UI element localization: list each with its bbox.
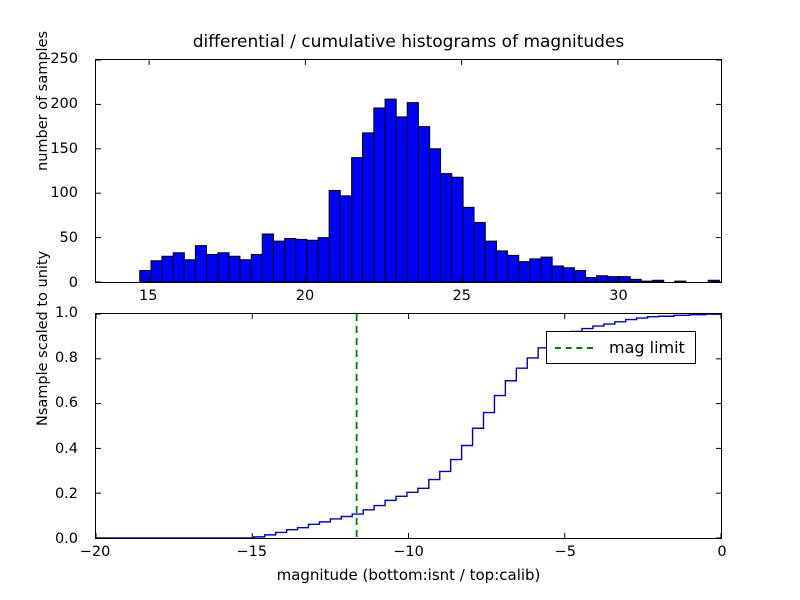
histogram-bar bbox=[173, 253, 184, 282]
histogram-bar bbox=[162, 256, 173, 282]
histogram-bar bbox=[385, 99, 396, 282]
matplotlib-figure: differential / cumulative histograms of … bbox=[0, 0, 800, 600]
top-xtick-label: 25 bbox=[453, 288, 471, 304]
bottom-ytick-label: 1.0 bbox=[55, 305, 86, 321]
top-ytick-label: 150 bbox=[50, 141, 86, 157]
histogram-bar bbox=[597, 276, 608, 282]
histogram-bar bbox=[274, 241, 285, 282]
bottom-axis-xticklabels: −20−15−10−50 bbox=[0, 544, 800, 564]
histogram-bar bbox=[218, 253, 229, 282]
histogram-bar bbox=[340, 196, 351, 282]
histogram-bar bbox=[630, 279, 641, 282]
histogram-bar bbox=[541, 257, 552, 282]
histogram-bar bbox=[396, 117, 407, 282]
histogram-bar bbox=[352, 158, 363, 282]
legend-label-mag-limit: mag limit bbox=[609, 338, 685, 357]
histogram-bar bbox=[285, 238, 296, 282]
histogram-bar bbox=[519, 262, 530, 282]
histogram-bar bbox=[363, 133, 374, 282]
bottom-xtick-label: −20 bbox=[80, 544, 111, 560]
histogram-bar bbox=[307, 240, 318, 282]
histogram-bar bbox=[563, 268, 574, 282]
histogram-bar bbox=[229, 256, 240, 282]
histogram-bar bbox=[251, 254, 262, 282]
histogram-bar bbox=[463, 207, 474, 282]
histogram-bar bbox=[586, 278, 597, 282]
bottom-ytick-label: 0.4 bbox=[55, 441, 86, 457]
histogram-bar bbox=[496, 251, 507, 282]
differential-histogram-plot bbox=[95, 59, 722, 283]
histogram-bar bbox=[429, 149, 440, 282]
top-ytick-label: 100 bbox=[50, 185, 86, 201]
figure-xlabel: magnitude (bottom:isnt / top:calib) bbox=[95, 566, 722, 584]
top-axis-xticklabels: 15202530 bbox=[0, 288, 800, 308]
histogram-bar bbox=[318, 238, 329, 282]
histogram-bar bbox=[675, 281, 686, 282]
top-ytick-label: 50 bbox=[60, 230, 86, 246]
histogram-bar bbox=[485, 241, 496, 282]
histogram-bar bbox=[574, 270, 585, 282]
histogram-bar bbox=[240, 260, 251, 282]
figure-title: differential / cumulative histograms of … bbox=[95, 32, 722, 52]
histogram-bar bbox=[474, 223, 485, 282]
histogram-bar bbox=[441, 174, 452, 282]
top-ytick-label: 200 bbox=[50, 96, 86, 112]
histogram-bar bbox=[619, 277, 630, 282]
top-xtick-label: 20 bbox=[296, 288, 314, 304]
histogram-bar bbox=[452, 177, 463, 282]
histogram-bar bbox=[407, 103, 418, 282]
histogram-bar bbox=[508, 255, 519, 282]
histogram-bar bbox=[530, 259, 541, 282]
bottom-xtick-label: −5 bbox=[555, 544, 576, 560]
histogram-bar bbox=[653, 280, 664, 282]
bottom-xtick-label: 0 bbox=[717, 544, 726, 560]
histogram-bar bbox=[195, 246, 206, 282]
top-axis-ylabel: number of samples bbox=[35, 31, 51, 171]
top-xtick-label: 15 bbox=[139, 288, 157, 304]
legend-line-sample-mag-limit bbox=[555, 347, 593, 349]
histogram-bar bbox=[374, 108, 385, 282]
legend: mag limit bbox=[546, 331, 696, 364]
bottom-ytick-label: 0.8 bbox=[55, 350, 86, 366]
differential-histogram-canvas bbox=[96, 60, 721, 282]
histogram-bar bbox=[296, 239, 307, 282]
bottom-ytick-label: 0.6 bbox=[55, 395, 86, 411]
histogram-bar bbox=[608, 277, 619, 282]
bottom-xtick-label: −10 bbox=[393, 544, 424, 560]
top-ytick-label: 250 bbox=[50, 51, 86, 67]
histogram-bar bbox=[207, 254, 218, 282]
histogram-bar bbox=[641, 281, 652, 282]
bottom-xtick-label: −15 bbox=[236, 544, 267, 560]
histogram-bar bbox=[262, 234, 273, 282]
histogram-bar bbox=[184, 260, 195, 282]
histogram-bar bbox=[552, 266, 563, 282]
histogram-bar bbox=[151, 261, 162, 282]
top-xtick-label: 30 bbox=[609, 288, 627, 304]
bottom-ytick-label: 0.2 bbox=[55, 486, 86, 502]
histogram-bar bbox=[419, 127, 430, 282]
histogram-bar bbox=[329, 191, 340, 282]
bottom-axis-ylabel: Nsample scaled to unity bbox=[35, 251, 51, 426]
